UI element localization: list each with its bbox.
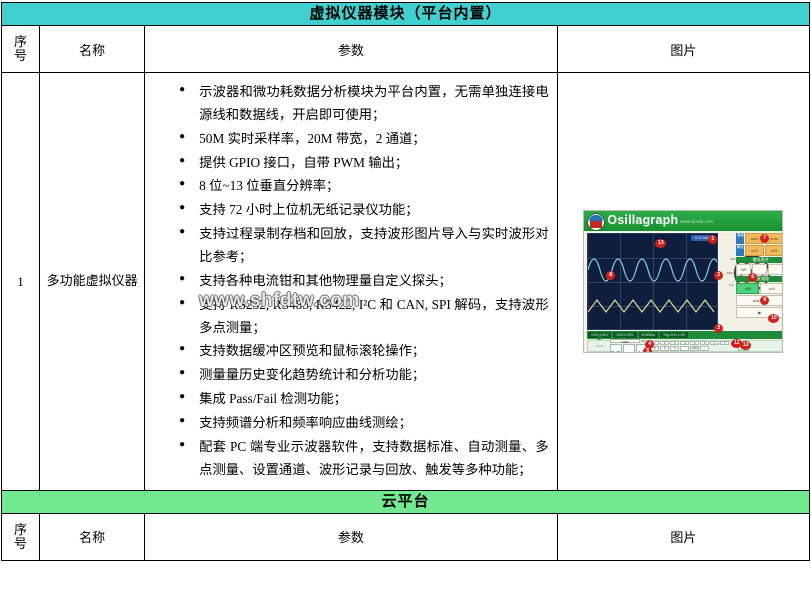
column-header-pic-1: 图片 [557,26,809,73]
keypad-key-7[interactable]: 7 [720,341,729,346]
waveform-display: CH1 Mean [587,233,718,330]
cell-name: 多功能虚拟仪器 [40,73,145,491]
control-row-coupling: 耦合 ch2 ch1 [736,245,783,256]
control-row-trigger-channel: ch2 ch1 [736,283,783,294]
keypad-key-DEL[interactable]: DEL [690,346,699,351]
column-header-seq-2: 序号 [2,513,40,560]
column-header-row-2: 序号 名称 参数 图片 [2,513,810,560]
square-wave-icon[interactable] [610,344,622,353]
cell-parameters: 示波器和微功耗数据分析模块为平台内置，无需单独连接电源线和数据线，开启即可使用；… [145,73,558,491]
parameter-bullet-item: 支持数据缓冲区预览和鼠标滚轮操作； [179,340,549,363]
section-banner-row-cloud-platform: 云平台 [2,490,810,513]
sine-wave-icon[interactable] [623,344,635,353]
parameter-bullet-item: 50M 实时采样率，20M 带宽，2 通道； [179,128,549,151]
parameter-bullet-item: 支持 72 小时上位机无纸记录仪功能； [179,199,549,222]
parameter-bullet-item: 示波器和微功耗数据分析模块为平台内置，无需单独连接电源线和数据线，开启即可使用； [179,81,549,127]
control-button-edge-falling[interactable] [768,264,783,275]
signal-generator-bar: S signal generator 1000 Hz [587,340,783,352]
parameter-bullet-list: 示波器和微功耗数据分析模块为平台内置，无需单独连接电源线和数据线，开启即可使用；… [145,81,557,482]
keypad-key-5[interactable]: 5 [690,341,699,346]
parameter-bullet-item: 8 位~13 位垂直分辨率； [179,175,549,198]
keypad-key-0[interactable]: 0 [670,346,679,351]
numeric-keypad[interactable]: 123456+/-7890.DEL← [650,341,736,351]
status-chip-timebase: M 500us [639,332,658,338]
control-button-ch1-coupling[interactable]: ch1 [765,245,784,256]
parameter-bullet-item: 支持过程录制存档和回放，支持波形图片导入与实时波形对比参考； [179,223,549,269]
spec-table: 虚拟仪器模块（平台内置） 序号 名称 参数 图片 1 多功能虚拟仪器 示波器和微… [1,2,810,561]
table-row: 1 多功能虚拟仪器 示波器和微功耗数据分析模块为平台内置，无需单独连接电源线和数… [2,73,810,491]
signal-generator-logo: S signal generator [590,334,608,353]
keypad-key-6[interactable]: 6 [700,341,709,346]
parameter-bullet-item: 测量量历史变化趋势统计和分析功能； [179,364,549,387]
column-header-name-2: 名称 [40,513,145,560]
parameter-bullet-item: 支持频谱分析和频率响应曲线测绘； [179,412,549,435]
spec-sheet: 虚拟仪器模块（平台内置） 序号 名称 参数 图片 1 多功能虚拟仪器 示波器和微… [0,2,811,610]
keypad-key-2[interactable]: 2 [660,341,669,346]
parameter-bullet-item: 支持各种电流钳和其他物理量自定义探头； [179,270,549,293]
parameter-bullet-item: 配套 PC 端专业示波器软件，支持数据标准、自动测量、多点测量、设置通道、波形记… [179,436,549,482]
keypad-key-4[interactable]: 4 [680,341,689,346]
scope-titlebar: Osillagraph www.dcode.com [584,211,783,231]
picture-wrapper: Osillagraph www.dcode.com [558,204,809,359]
dial-tick-6: 0.5 [729,283,733,287]
waveform-traces [588,234,718,330]
control-row-trigger-condition: NP [736,264,783,275]
parameter-bullet-item: 集成 Pass/Fail 检测功能； [179,388,549,411]
keypad-key-.[interactable]: . [680,346,689,351]
column-header-seq-text-1: 序号 [2,35,39,62]
control-button-trigger-ch1[interactable]: ch1 [760,283,783,294]
parameter-bullet-item: 支持 RS232, RS485, RS422, I²C 和 CAN, SPI 解… [179,294,549,340]
status-chip-ch2: CH2 2.00V [613,332,636,338]
oscilloscope-software-image: Osillagraph www.dcode.com [583,210,783,353]
frequency-input[interactable]: 1000 [610,339,640,344]
signal-generator-sub: signal generator [590,342,608,353]
column-header-seq-1: 序号 [2,26,40,73]
dial-tick-2: 50m [730,257,736,261]
column-header-name-1: 名称 [40,26,145,73]
section-title-cloud-platform: 云平台 [2,490,810,513]
control-header-trigger-channel: 触发通道 [736,276,783,282]
column-header-seq-text-2: 序号 [2,523,39,550]
control-label-coupling: 耦合 [736,245,744,256]
column-header-row-1: 序号 名称 参数 图片 [2,26,810,73]
keypad-key-+/-[interactable]: +/- [710,341,719,346]
app-title: Osillagraph [607,213,678,227]
app-url: www.dcode.com [680,219,713,224]
cell-seq: 1 [2,73,40,491]
app-logo-icon [587,213,605,231]
parameter-bullet-item: 提供 GPIO 接口，自带 PWM 输出； [179,152,549,175]
signal-generator-letter: S [597,333,602,342]
keypad-key-9[interactable]: 9 [660,346,669,351]
keypad-key-←[interactable]: ← [700,346,709,351]
column-header-param-2: 参数 [145,513,558,560]
dial-tick-4: 200m [726,271,734,275]
column-header-pic-2: 图片 [557,513,809,560]
control-button-ch2-coupling[interactable]: ch2 [745,245,764,256]
control-header-trigger-condition: 触发条件 [736,257,783,263]
section-title-virtual-instrument: 虚拟仪器模块（平台内置） [2,3,810,26]
keypad-key-3[interactable]: 3 [670,341,679,346]
cell-picture: Osillagraph www.dcode.com [557,73,809,491]
control-button-trigger-ch2[interactable]: ch2 [736,283,759,294]
callout-badge-5: 5 [643,347,652,353]
status-chip-trigger: Trig CH1 1.0V [660,332,688,338]
section-banner-row-virtual-instrument: 虚拟仪器模块（平台内置） [2,3,810,26]
column-header-param-1: 参数 [145,26,558,73]
control-label-channel: 通道 [736,233,744,244]
